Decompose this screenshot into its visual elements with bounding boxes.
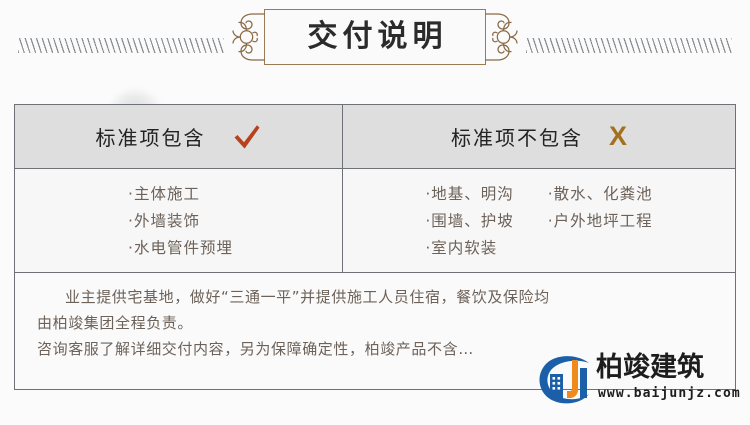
x-mark-icon: X [609,123,627,150]
excluded-header-label: 标准项不包含 [451,122,583,151]
note-line-2: 由柏竣集团全程负责。 [37,311,713,337]
included-header-cell: 标准项包含 [15,105,343,168]
page-header: 交付说明 [0,0,750,92]
list-item: ·主体施工 [128,183,233,205]
list-item: ·水电管件预埋 [128,237,233,259]
table-body-row: ·主体施工 ·外墙装饰 ·水电管件预埋 ·地基、明沟 ·围墙、护坡 ·室内软装 … [15,169,735,273]
included-items-list: ·主体施工 ·外墙装饰 ·水电管件预埋 [124,183,233,259]
excluded-items-list-col1: ·地基、明沟 ·围墙、护坡 ·室内软装 [425,183,513,259]
list-item: ·外墙装饰 [128,210,233,232]
list-item: ·围墙、护坡 [425,210,513,232]
included-header-label: 标准项包含 [96,122,206,151]
excluded-header-cell: 标准项不包含 X [343,105,735,168]
delivery-spec-table: 标准项包含 标准项不包含 X ·主体施工 ·外墙装饰 ·水电管件预埋 [14,104,736,390]
note-line-1: 业主提供宅基地，做好“三通一平”并提供施工人员住宿，餐饮及保险均 [37,285,713,311]
scroll-ornament-left-icon [231,10,267,64]
title-banner: 交付说明 [232,6,518,68]
hatch-lines-right-icon [526,38,732,53]
baijun-building-logo-icon [536,354,594,406]
excluded-items-list-col2: ·散水、化粪池 ·户外地坪工程 [548,183,653,259]
list-item: ·地基、明沟 [425,183,513,205]
watermark: 柏竣建筑 www.baijunjz.com [536,352,742,414]
watermark-url: www.baijunjz.com [598,386,741,401]
check-mark-icon [232,123,262,151]
watermark-brand: 柏竣建筑 [596,352,704,384]
table-header-row: 标准项包含 标准项不包含 X [15,105,735,169]
page-title: 交付说明 [264,9,486,65]
scroll-ornament-right-icon [483,10,519,64]
list-item: ·室内软装 [425,237,513,259]
list-item: ·户外地坪工程 [548,210,653,232]
excluded-items-cell: ·地基、明沟 ·围墙、护坡 ·室内软装 ·散水、化粪池 ·户外地坪工程 [343,169,735,272]
list-item: ·散水、化粪池 [548,183,653,205]
included-items-cell: ·主体施工 ·外墙装饰 ·水电管件预埋 [15,169,343,272]
hatch-lines-left-icon [18,38,224,53]
